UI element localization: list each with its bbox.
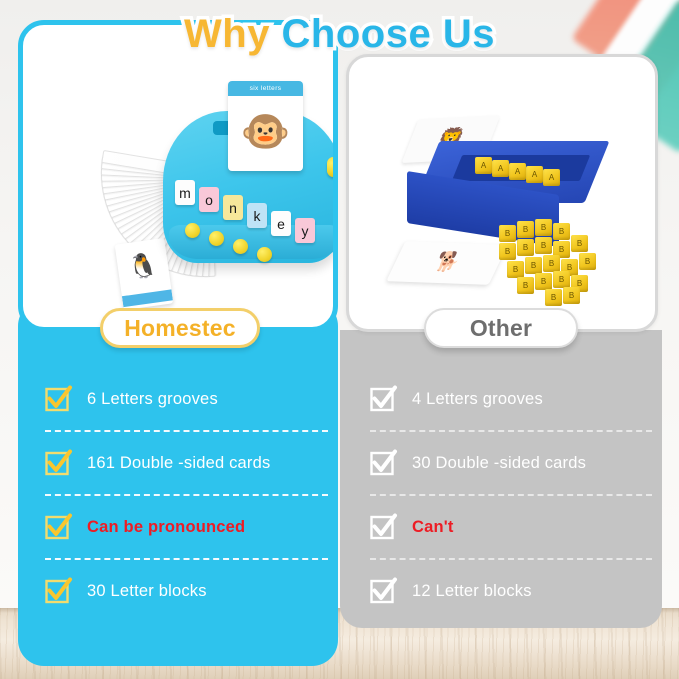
checkbox-icon xyxy=(370,450,396,476)
letter-cube: B xyxy=(545,289,562,306)
feature-label: 30 Double -sided cards xyxy=(412,454,586,473)
checkbox-icon xyxy=(370,578,396,604)
toy-button xyxy=(257,247,272,262)
feature-divider xyxy=(370,430,652,432)
letter-cube: A xyxy=(543,169,560,186)
homestec-illustration: 🐧 six letters 🐵 monkey xyxy=(23,25,333,327)
other-card-bottom-image: 🐕 xyxy=(386,241,508,285)
checkbox-icon xyxy=(45,514,71,540)
page-title: Why Choose Us xyxy=(0,12,679,57)
checkbox-icon xyxy=(45,450,71,476)
infographic-canvas: Why Choose Us 🐧 six letters 🐵 monkey xyxy=(0,0,679,679)
feature-divider xyxy=(45,430,328,432)
letter-cube: B xyxy=(563,287,580,304)
checkbox-icon xyxy=(45,578,71,604)
feature-divider xyxy=(45,558,328,560)
letter-cube: B xyxy=(535,219,552,236)
checkbox-icon xyxy=(370,514,396,540)
letter-cube: B xyxy=(507,261,524,278)
letter-cube: B xyxy=(553,223,570,240)
letter-cube: A xyxy=(492,160,509,177)
letter-tile-n: n xyxy=(223,195,243,220)
other-illustration: 🦁 🐕 AAAAABBBBBBBBBBBBBBBBBBBB xyxy=(349,57,655,329)
feature-divider xyxy=(370,494,652,496)
feature-row: 4 Letters grooves xyxy=(340,368,662,430)
letter-cube: B xyxy=(535,273,552,290)
feature-row: Can be pronounced xyxy=(18,496,338,558)
flashcard-inserted: six letters 🐵 xyxy=(228,81,303,171)
letter-tile-y: y xyxy=(295,218,315,243)
feature-row: 6 Letters grooves xyxy=(18,368,338,430)
flashcard-monkey-image: 🐵 xyxy=(228,96,303,168)
letter-cube: B xyxy=(543,255,560,272)
toy-button xyxy=(185,223,200,238)
checkbox-icon xyxy=(370,386,396,412)
letter-cube: B xyxy=(499,243,516,260)
letter-tile-m: m xyxy=(175,180,195,205)
letter-cube: B xyxy=(535,237,552,254)
letter-cube: B xyxy=(517,277,534,294)
feature-row: Can't xyxy=(340,496,662,558)
feature-label: Can be pronounced xyxy=(87,518,245,537)
title-word-why: Why xyxy=(184,12,282,56)
checkbox-icon xyxy=(45,386,71,412)
homestec-feature-list: 6 Letters grooves161 Double -sided cards… xyxy=(18,368,338,622)
feature-row: 12 Letter blocks xyxy=(340,560,662,622)
flashcard-lower-image: 🐧 xyxy=(115,238,172,296)
letter-cube: B xyxy=(571,235,588,252)
badge-other: Other xyxy=(424,308,578,348)
feature-label: 161 Double -sided cards xyxy=(87,454,270,473)
other-product-photo: 🦁 🐕 AAAAABBBBBBBBBBBBBBBBBBBB xyxy=(346,54,658,332)
letter-cube: B xyxy=(553,271,570,288)
feature-row: 30 Double -sided cards xyxy=(340,432,662,494)
letter-cube: B xyxy=(517,221,534,238)
feature-row: 30 Letter blocks xyxy=(18,560,338,622)
feature-label: 30 Letter blocks xyxy=(87,582,207,601)
other-feature-list: 4 Letters grooves30 Double -sided cardsC… xyxy=(340,368,662,622)
letter-cube: B xyxy=(517,239,534,256)
badge-homestec: Homestec xyxy=(100,308,260,348)
flashcard-caption: six letters xyxy=(228,81,303,96)
title-words-choose-us: Choose Us xyxy=(282,12,495,56)
flashcard-lower: 🐧 xyxy=(115,238,174,310)
homestec-product-photo: 🐧 six letters 🐵 monkey xyxy=(18,20,338,332)
letter-tile-o: o xyxy=(199,187,219,212)
letter-cube: A xyxy=(526,166,543,183)
toy-button xyxy=(233,239,248,254)
feature-label: 12 Letter blocks xyxy=(412,582,532,601)
letter-tile-e: e xyxy=(271,211,291,236)
checkbox-icon xyxy=(370,578,396,604)
letter-cube: A xyxy=(475,157,492,174)
checkbox-icon xyxy=(370,386,396,412)
feature-divider xyxy=(370,558,652,560)
letter-cube: A xyxy=(509,163,526,180)
checkbox-icon xyxy=(370,450,396,476)
checkbox-icon xyxy=(370,514,396,540)
feature-label: 4 Letters grooves xyxy=(412,390,543,409)
feature-label: Can't xyxy=(412,518,454,537)
feature-divider xyxy=(45,494,328,496)
feature-label: 6 Letters grooves xyxy=(87,390,218,409)
toy-side-button xyxy=(327,157,338,177)
letter-cube: B xyxy=(579,253,596,270)
checkbox-icon xyxy=(45,386,71,412)
letter-tile-k: k xyxy=(247,203,267,228)
checkbox-icon xyxy=(45,578,71,604)
toy-button xyxy=(209,231,224,246)
letter-cube: B xyxy=(499,225,516,242)
checkbox-icon xyxy=(45,450,71,476)
checkbox-icon xyxy=(45,514,71,540)
letter-cube: B xyxy=(525,257,542,274)
feature-row: 161 Double -sided cards xyxy=(18,432,338,494)
